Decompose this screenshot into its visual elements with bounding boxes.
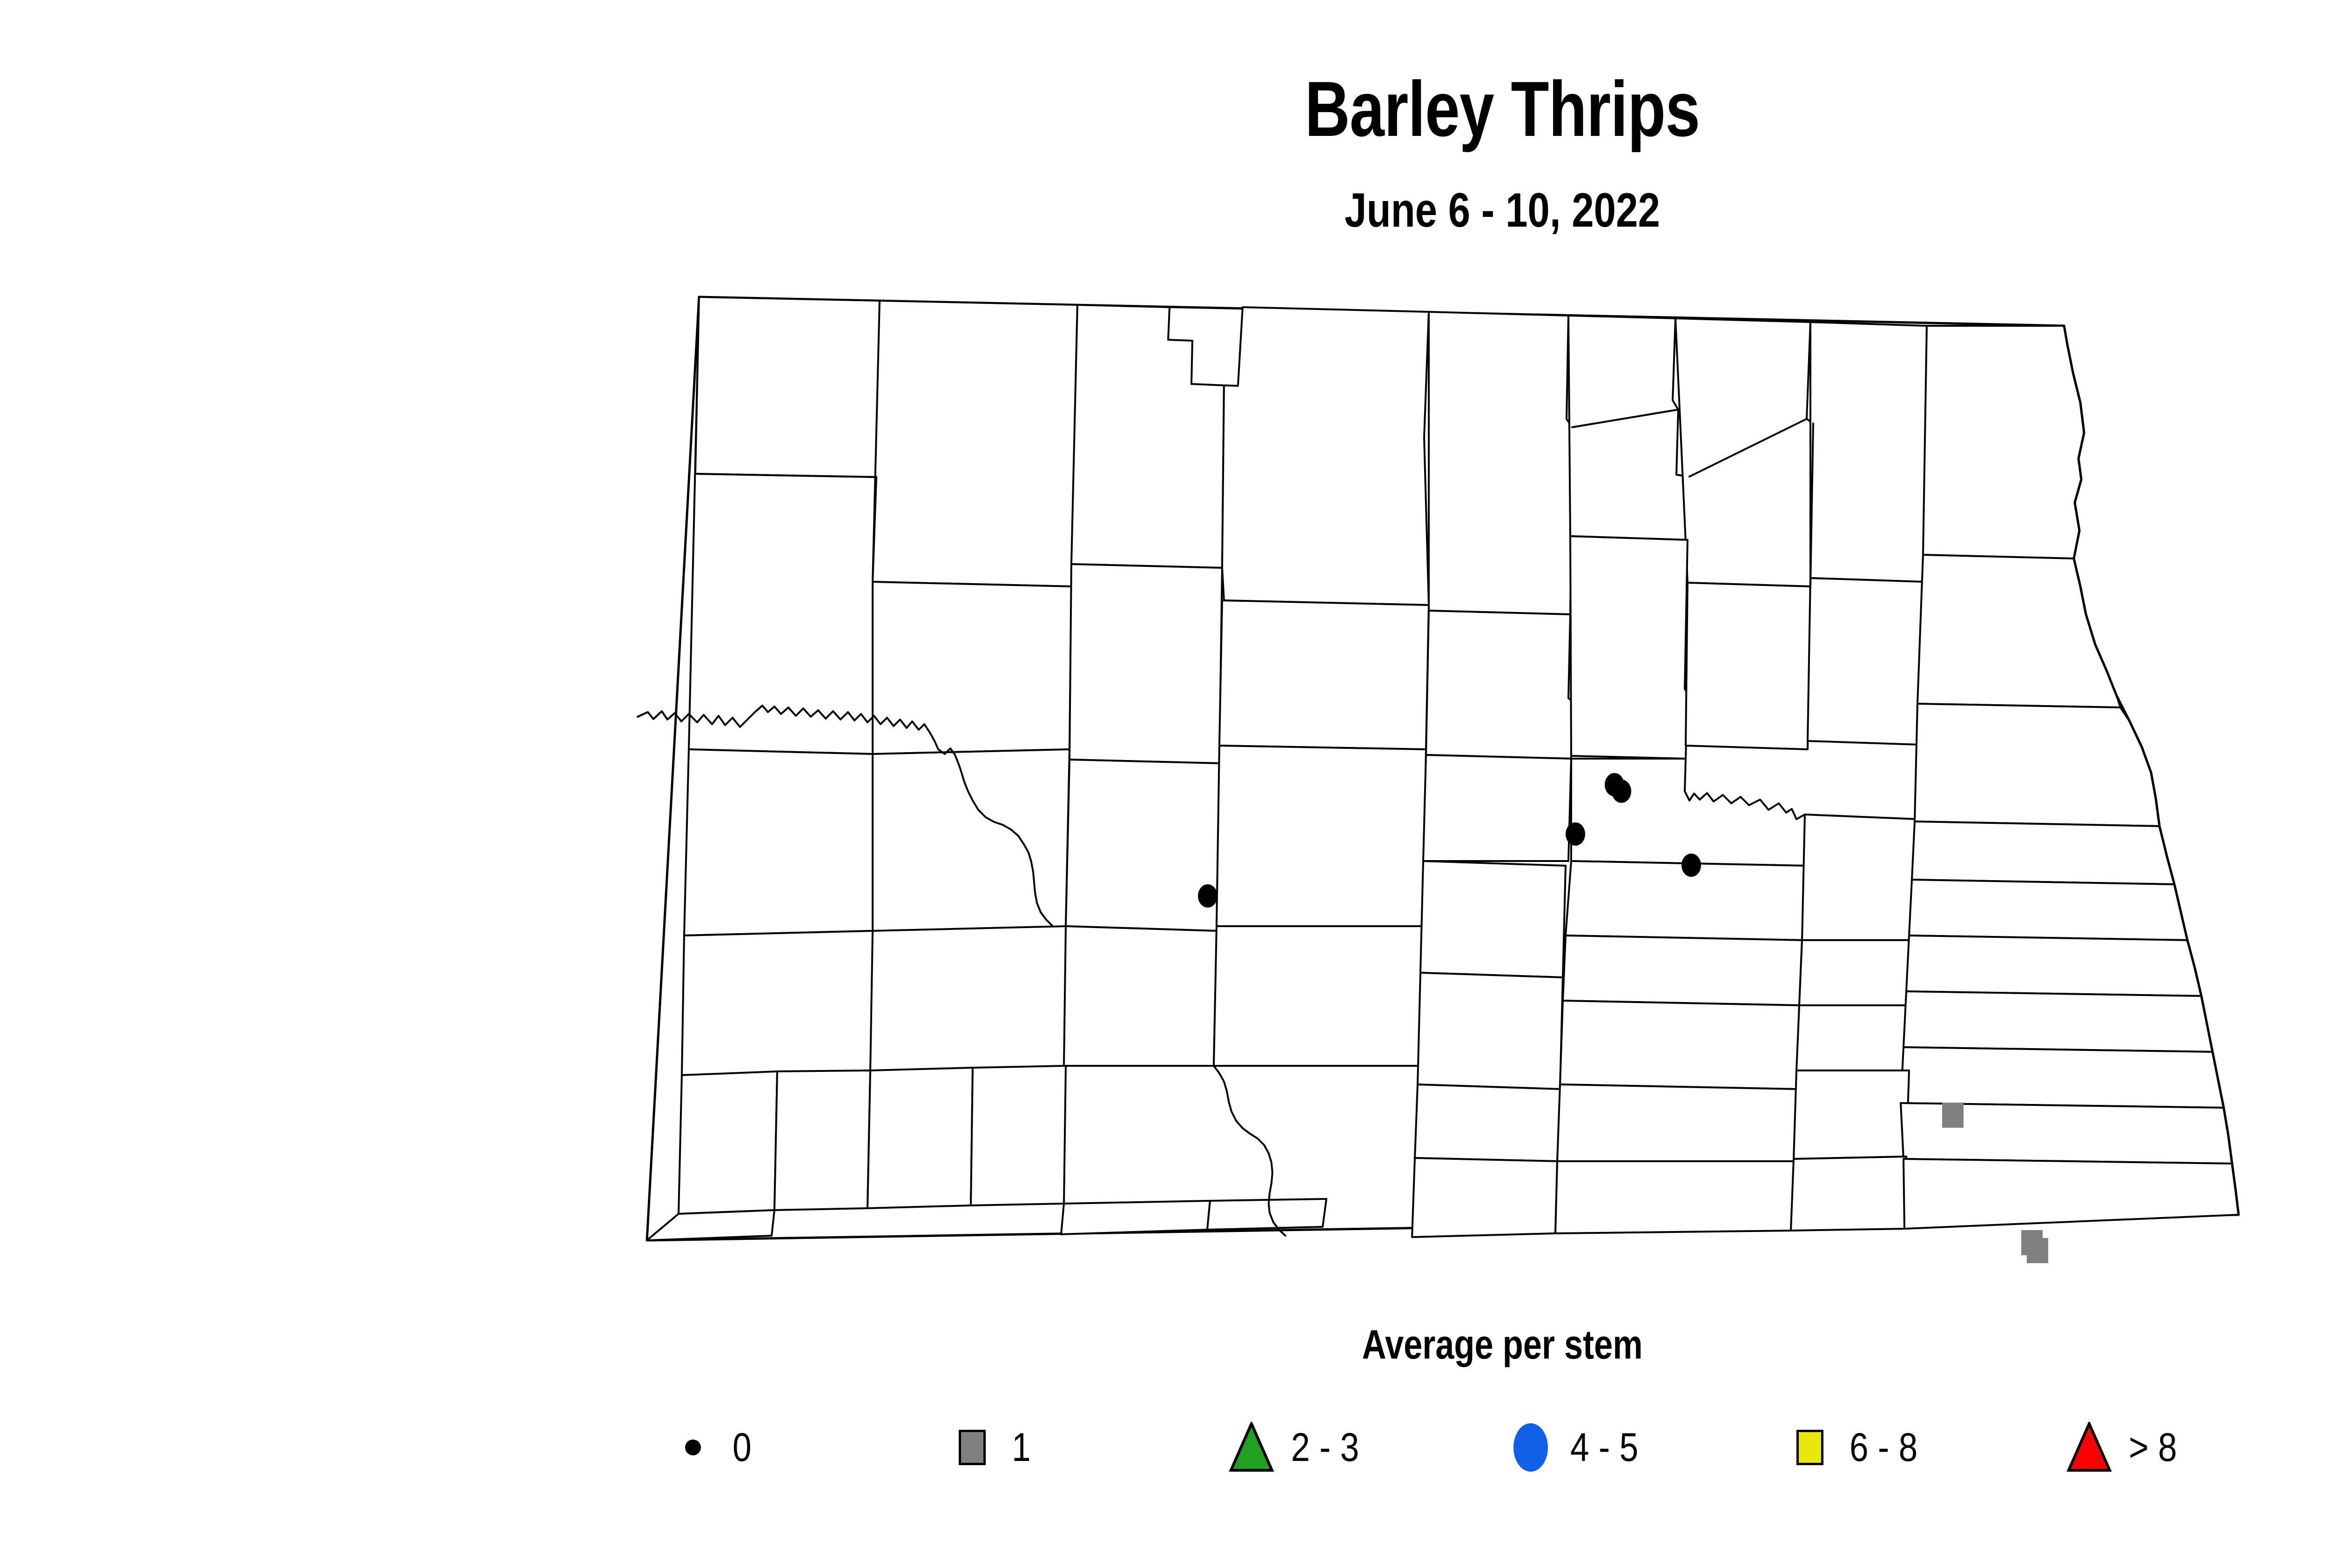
legend-item-4-5: 4 - 5: [1503, 1420, 1782, 1475]
legend-item-2-3: 2 - 3: [1224, 1420, 1503, 1475]
legend-item-label: 1: [1012, 1427, 1031, 1467]
circle-icon: [1503, 1420, 1558, 1475]
square-icon: [1782, 1420, 1837, 1475]
legend-item-label: > 8: [2129, 1427, 2177, 1467]
county-boundaries: [638, 297, 2239, 1240]
legend: 012 - 34 - 56 - 8> 8: [666, 1406, 2327, 1489]
legend-title: Average per stem: [270, 1324, 2327, 1365]
map-marker-circle: [1612, 780, 1631, 802]
map-marker-circle: [1682, 854, 1701, 876]
legend-item-1: 1: [945, 1420, 1224, 1475]
north-dakota-county-map: [619, 279, 2276, 1266]
triangle-icon: [2062, 1420, 2117, 1475]
map-marker-circle: [1198, 885, 1217, 907]
page-subtitle: June 6 - 10, 2022: [270, 186, 2327, 235]
triangle-icon: [1224, 1420, 1279, 1475]
legend-item-label: 6 - 8: [1849, 1427, 1917, 1467]
square-icon: [945, 1420, 1000, 1475]
legend-item-label: 4 - 5: [1570, 1427, 1638, 1467]
legend-item-label: 0: [733, 1427, 752, 1467]
legend-item-6-8: 6 - 8: [1782, 1420, 2062, 1475]
legend-item-label: 2 - 3: [1291, 1427, 1359, 1467]
map-marker-square: [1943, 1103, 1963, 1127]
legend-item--8: > 8: [2062, 1420, 2327, 1475]
page-title: Barley Thrips: [301, 70, 2327, 148]
dot-icon: [666, 1420, 720, 1475]
legend-item-0: 0: [666, 1420, 945, 1475]
map-marker-square: [2027, 1238, 2048, 1263]
barley-thrips-map-page: Barley Thrips June 6 - 10, 2022: [0, 0, 2327, 1568]
map-marker-circle: [1566, 823, 1585, 845]
